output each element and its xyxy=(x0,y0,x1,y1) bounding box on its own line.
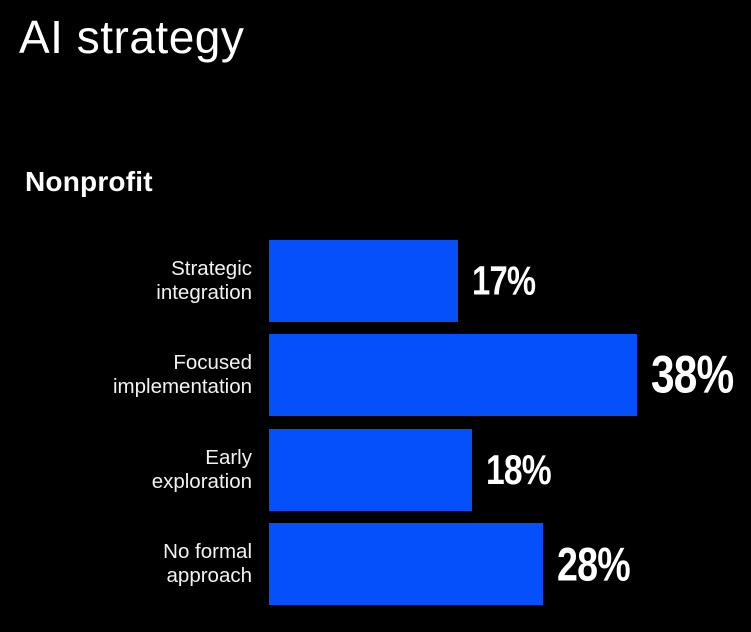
bar-category-label: Strategic integration xyxy=(0,257,252,305)
bar-value-label: 18% xyxy=(486,446,551,494)
bar-early-exploration xyxy=(269,429,472,511)
bar-no-formal-approach xyxy=(269,523,543,605)
horizontal-bar-chart: Strategic integration 17% Focused implem… xyxy=(0,0,751,632)
bar-value-label: 28% xyxy=(557,537,630,592)
bar-category-label: No formal approach xyxy=(0,540,252,588)
bar-focused-implementation xyxy=(269,334,637,416)
bar-value-label: 17% xyxy=(472,258,535,305)
bar-row: No formal approach 28% xyxy=(0,523,751,605)
slide-canvas: AI strategy Nonprofit Strategic integrat… xyxy=(0,0,751,632)
bar-row: Strategic integration 17% xyxy=(0,240,751,322)
bar-row: Early exploration 18% xyxy=(0,429,751,511)
bar-row: Focused implementation 38% xyxy=(0,334,751,416)
bar-category-label: Focused implementation xyxy=(0,351,252,399)
bar-strategic-integration xyxy=(269,240,458,322)
bar-value-label: 38% xyxy=(651,345,733,406)
bar-category-label: Early exploration xyxy=(0,446,252,494)
